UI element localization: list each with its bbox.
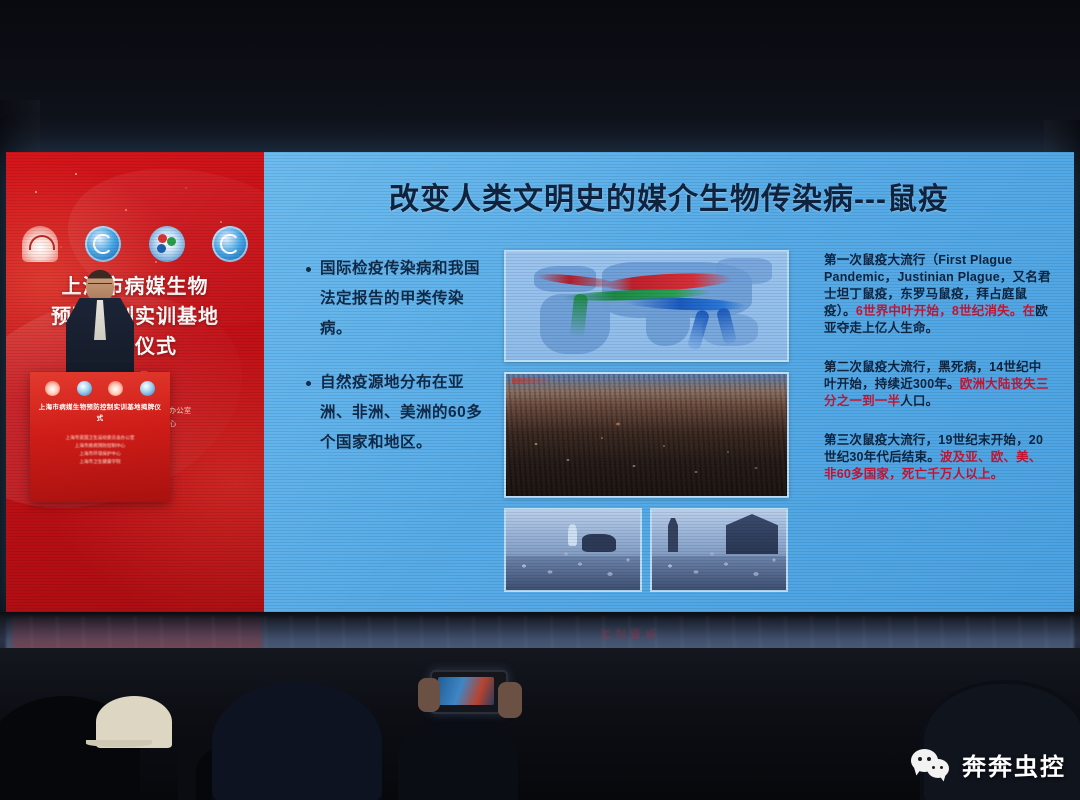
bubble-eye <box>927 757 931 761</box>
slide-bullet-1: 国际检疫传染病和我国法定报告的甲类传染病。 <box>304 254 484 344</box>
podium-title: 上海市病媒生物预防控制实训基地揭牌仪式 <box>38 402 162 424</box>
third-pandemic-photo-right <box>650 508 788 592</box>
slide-bullet-2: 自然疫源地分布在亚洲、非洲、美洲的60多个国家和地区。 <box>304 368 484 458</box>
podium-emblem-2-icon <box>77 381 92 396</box>
slide-paragraph-3: 第三次鼠疫大流行，19世纪末开始，20世纪30年代后结束。波及亚、欧、美、非60… <box>824 432 1052 483</box>
third-pandemic-photo-left <box>504 508 642 592</box>
arch-emblem-icon <box>22 226 58 262</box>
bubble-eye <box>932 766 935 769</box>
bubble-eye <box>940 766 943 769</box>
podium-subtitle: 上海市爱国卫生运动委员会办公室 上海市疾病预防控制中心 上海市环境保护中心 上海… <box>38 434 162 466</box>
reflected-text: 实训基地 <box>600 626 660 642</box>
podium: 上海市病媒生物预防控制实训基地揭牌仪式 上海市爱国卫生运动委员会办公室 上海市疾… <box>30 372 170 502</box>
smartphone-recording[interactable] <box>430 670 508 714</box>
watermark-text: 奔奔虫控 <box>962 747 1066 782</box>
health-emblem-icon <box>212 226 248 262</box>
audience-head <box>398 714 518 800</box>
slide-text-column: 第一次鼠疫大流行（First Plague Pandemic，Justinian… <box>824 252 1052 505</box>
audience-cap-dark <box>212 682 382 800</box>
paragraph-2-normal-2: 人口。 <box>900 394 938 408</box>
map-landmass-india <box>646 306 690 346</box>
presentation-slide: 改变人类文明史的媒介生物传染病---鼠疫 国际检疫传染病和我国法定报告的甲类传染… <box>264 152 1074 612</box>
bubble-eye <box>918 757 922 761</box>
podium-subtitle-3: 上海市环境保护中心 <box>38 450 162 458</box>
slide-paragraph-2: 第二次鼠疫大流行，黑死病，14世纪中叶开始，持续近300年。欧洲大陆丧失三分之一… <box>824 359 1052 410</box>
slide-photo-pair <box>504 508 789 592</box>
photo-debris <box>506 510 640 590</box>
podium-logo-row <box>40 380 160 396</box>
slide-paragraph-1: 第一次鼠疫大流行（First Plague Pandemic，Justinian… <box>824 252 1052 337</box>
slide-bullet-list: 国际检疫传染病和我国法定报告的甲类传染病。 自然疫源地分布在亚洲、非洲、美洲的6… <box>304 254 484 482</box>
wechat-bubble-small <box>927 759 949 778</box>
speaker-figure <box>62 270 138 380</box>
podium-emblem-3-icon <box>108 381 123 396</box>
podium-subtitle-4: 上海市卫生健康学院 <box>38 458 162 466</box>
painting-texture <box>506 374 787 496</box>
banner-logo-row <box>22 224 248 264</box>
audience-cap-brim <box>86 740 152 747</box>
podium-subtitle-1: 上海市爱国卫生运动委员会办公室 <box>38 434 162 442</box>
phone-screen <box>438 677 494 705</box>
tri-color-emblem-icon <box>149 226 185 262</box>
watermark: 奔奔虫控 <box>911 747 1066 782</box>
photo-person <box>568 524 577 546</box>
plague-spread-world-map <box>504 250 789 362</box>
photo-cart <box>582 534 616 552</box>
triumph-of-death-painting <box>504 372 789 498</box>
wechat-logo-icon <box>911 749 953 781</box>
speaker-glasses <box>88 283 112 289</box>
cdc-emblem-icon <box>85 226 121 262</box>
podium-emblem-4-icon <box>140 381 155 396</box>
painting-caption-stripe <box>512 378 552 384</box>
audience-cap-right <box>924 684 1080 800</box>
podium-emblem-1-icon <box>45 381 60 396</box>
photo-debris <box>652 510 786 590</box>
hall-ceiling <box>0 0 1080 160</box>
slide-title: 改变人类文明史的媒介生物传染病---鼠疫 <box>264 174 1074 218</box>
paragraph-1-highlight: 6世界中叶开始，8世纪消失。在 <box>856 304 1035 318</box>
conference-hall-photo: 上海市病媒生物 预防控制实训基地 揭牌仪式 2023年3月16日 中国 · 上海… <box>0 0 1080 800</box>
hand-right <box>498 682 522 718</box>
slide-image-column <box>504 250 789 592</box>
podium-subtitle-2: 上海市疾病预防控制中心 <box>38 442 162 450</box>
hand-left <box>418 678 440 712</box>
